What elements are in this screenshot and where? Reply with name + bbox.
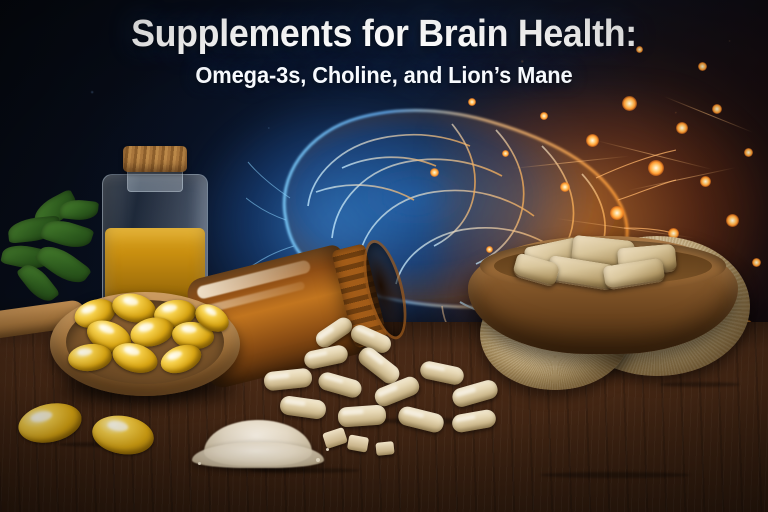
loose-softgels [18, 396, 208, 468]
cork-stopper [123, 146, 187, 172]
page-subtitle: Omega-3s, Choline, and Lion’s Mane [19, 62, 749, 89]
capsule-tablet [347, 434, 369, 452]
powder-pile [192, 414, 328, 476]
wooden-spoon-softgels [0, 286, 254, 414]
page-title: Supplements for Brain Health: [23, 14, 745, 54]
capsule-tablet [375, 441, 394, 456]
hero-banner: Supplements for Brain Health: Omega-3s, … [0, 0, 768, 512]
title-block: Supplements for Brain Health: Omega-3s, … [0, 14, 768, 89]
